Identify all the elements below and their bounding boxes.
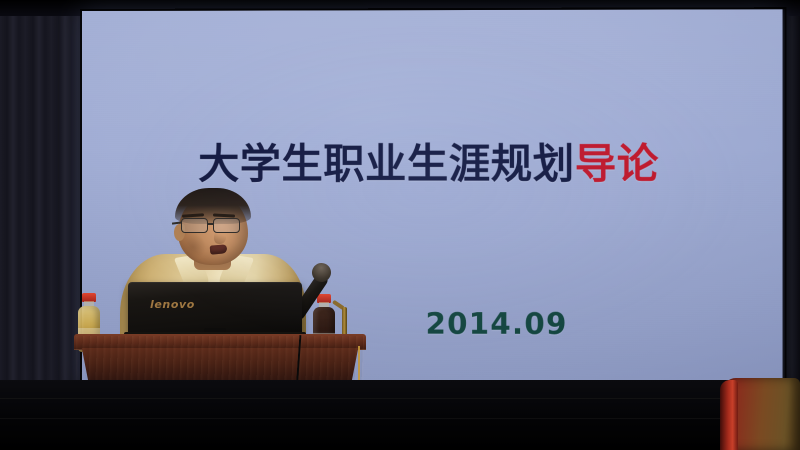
seat-side-panel — [720, 380, 738, 450]
theater-seat — [708, 376, 800, 450]
slide-title: 大学生职业生涯规划导论 — [198, 144, 659, 185]
microphone — [306, 263, 364, 341]
stage-floor — [0, 380, 800, 450]
glasses-bridge — [208, 223, 213, 225]
lenovo-logo: lenovo — [150, 298, 195, 311]
eyeglasses-icon — [178, 218, 250, 234]
floor-edge-line — [0, 398, 800, 399]
laptop-lid: lenovo — [128, 282, 302, 334]
slide-title-accent: 导论 — [575, 140, 659, 188]
slide-title-main: 大学生职业生涯规划 — [198, 140, 575, 188]
glasses-lens-left — [181, 218, 208, 233]
slide-date: 2014.09 — [426, 307, 568, 341]
face-shading — [180, 234, 206, 260]
presentation-photo-scene: 大学生职业生涯规划导论 2014.09 — [0, 0, 800, 450]
presenter-nose — [214, 231, 226, 244]
floor-edge-line — [0, 418, 800, 419]
